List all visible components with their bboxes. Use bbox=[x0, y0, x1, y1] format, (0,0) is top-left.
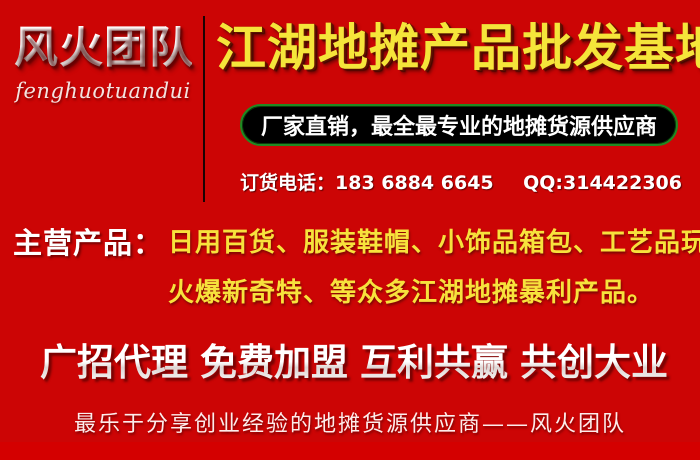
bottom-color-band bbox=[0, 442, 700, 460]
brand-logo: 风火团队 fenghuotuandui bbox=[14, 26, 192, 103]
main-title: 江湖地摊产品批发基地 bbox=[216, 22, 694, 75]
slogan-row: 广招代理 免费加盟 互利共赢 共创大业 bbox=[40, 332, 668, 386]
vertical-divider bbox=[203, 16, 205, 202]
subtitle-banner: 厂家直销，最全最专业的地摊货源供应商 bbox=[240, 104, 678, 146]
slogan-item-3: 互利共赢 bbox=[360, 332, 508, 386]
products-line-1: 日用百货、服装鞋帽、小饰品箱包、工艺品玩具、 bbox=[168, 222, 700, 259]
products-label: 主营产品： bbox=[13, 220, 163, 262]
order-phone-text: 订货电话：183 6884 6645 bbox=[240, 168, 494, 195]
brand-name-pinyin: fenghuotuandui bbox=[14, 79, 192, 103]
brand-name-chinese: 风火团队 bbox=[14, 26, 192, 70]
slogan-item-4: 共创大业 bbox=[520, 332, 668, 386]
slogan-item-2: 免费加盟 bbox=[200, 332, 348, 386]
footer-tagline: 最乐于分享创业经验的地摊货源供应商——风火团队 bbox=[0, 406, 700, 438]
promotional-banner: 风火团队 fenghuotuandui 江湖地摊产品批发基地 厂家直销，最全最专… bbox=[0, 0, 700, 460]
subtitle-banner-text: 厂家直销，最全最专业的地摊货源供应商 bbox=[261, 109, 657, 141]
products-line-2: 火爆新奇特、等众多江湖地摊暴利产品。 bbox=[168, 272, 654, 309]
contact-row: 订货电话：183 6884 6645 QQ:314422306 bbox=[240, 168, 688, 195]
qq-number-text: QQ:314422306 bbox=[523, 172, 682, 194]
slogan-item-1: 广招代理 bbox=[40, 332, 188, 386]
